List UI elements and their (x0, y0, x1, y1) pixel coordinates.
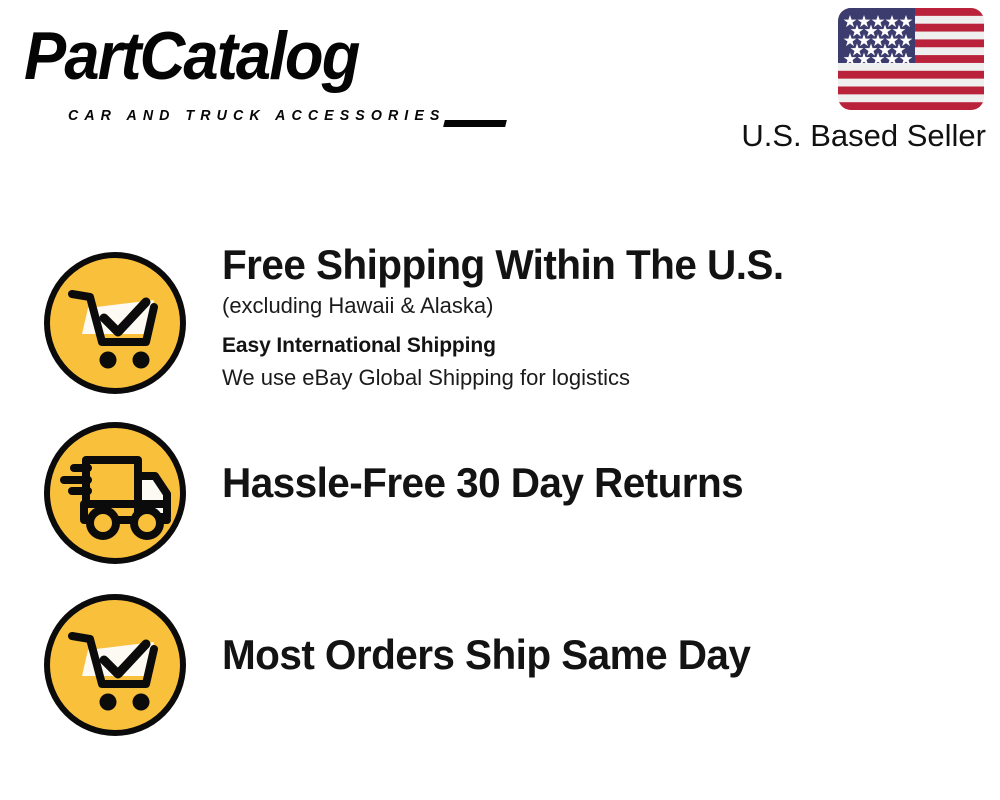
brand-tagline: CAR AND TRUCK ACCESSORIES (68, 108, 445, 124)
feature-note-line: We use eBay Global Shipping for logistic… (222, 362, 992, 394)
us-flag-icon (838, 8, 984, 110)
brand-logo[interactable]: PartCatalog CAR AND TRUCK ACCESSORIES (24, 20, 494, 115)
feature-text-block: Most Orders Ship Same Day (222, 630, 992, 680)
feature-text-block: Hassle-Free 30 Day Returns (222, 458, 992, 508)
feature-heading: Hassle-Free 30 Day Returns (222, 458, 965, 508)
feature-subtext: (excluding Hawaii & Alaska) (222, 290, 992, 322)
feature-row: Free Shipping Within The U.S. (excluding… (0, 230, 1000, 410)
header-banner: PartCatalog CAR AND TRUCK ACCESSORIES (0, 0, 1000, 170)
feature-text-block: Free Shipping Within The U.S. (excluding… (222, 240, 992, 394)
feature-bold-line: Easy International Shipping (222, 330, 992, 362)
brand-underline-stroke (443, 120, 507, 127)
shopping-cart-check-icon (42, 250, 188, 396)
brand-wordmark: PartCatalog (24, 20, 358, 92)
shopping-cart-check-icon (42, 592, 188, 738)
us-based-seller-label: U.S. Based Seller (500, 118, 986, 154)
feature-heading: Most Orders Ship Same Day (222, 630, 965, 680)
feature-row: Hassle-Free 30 Day Returns (0, 420, 1000, 580)
delivery-truck-icon (42, 420, 188, 566)
feature-row: Most Orders Ship Same Day (0, 592, 1000, 752)
feature-heading: Free Shipping Within The U.S. (222, 240, 965, 290)
